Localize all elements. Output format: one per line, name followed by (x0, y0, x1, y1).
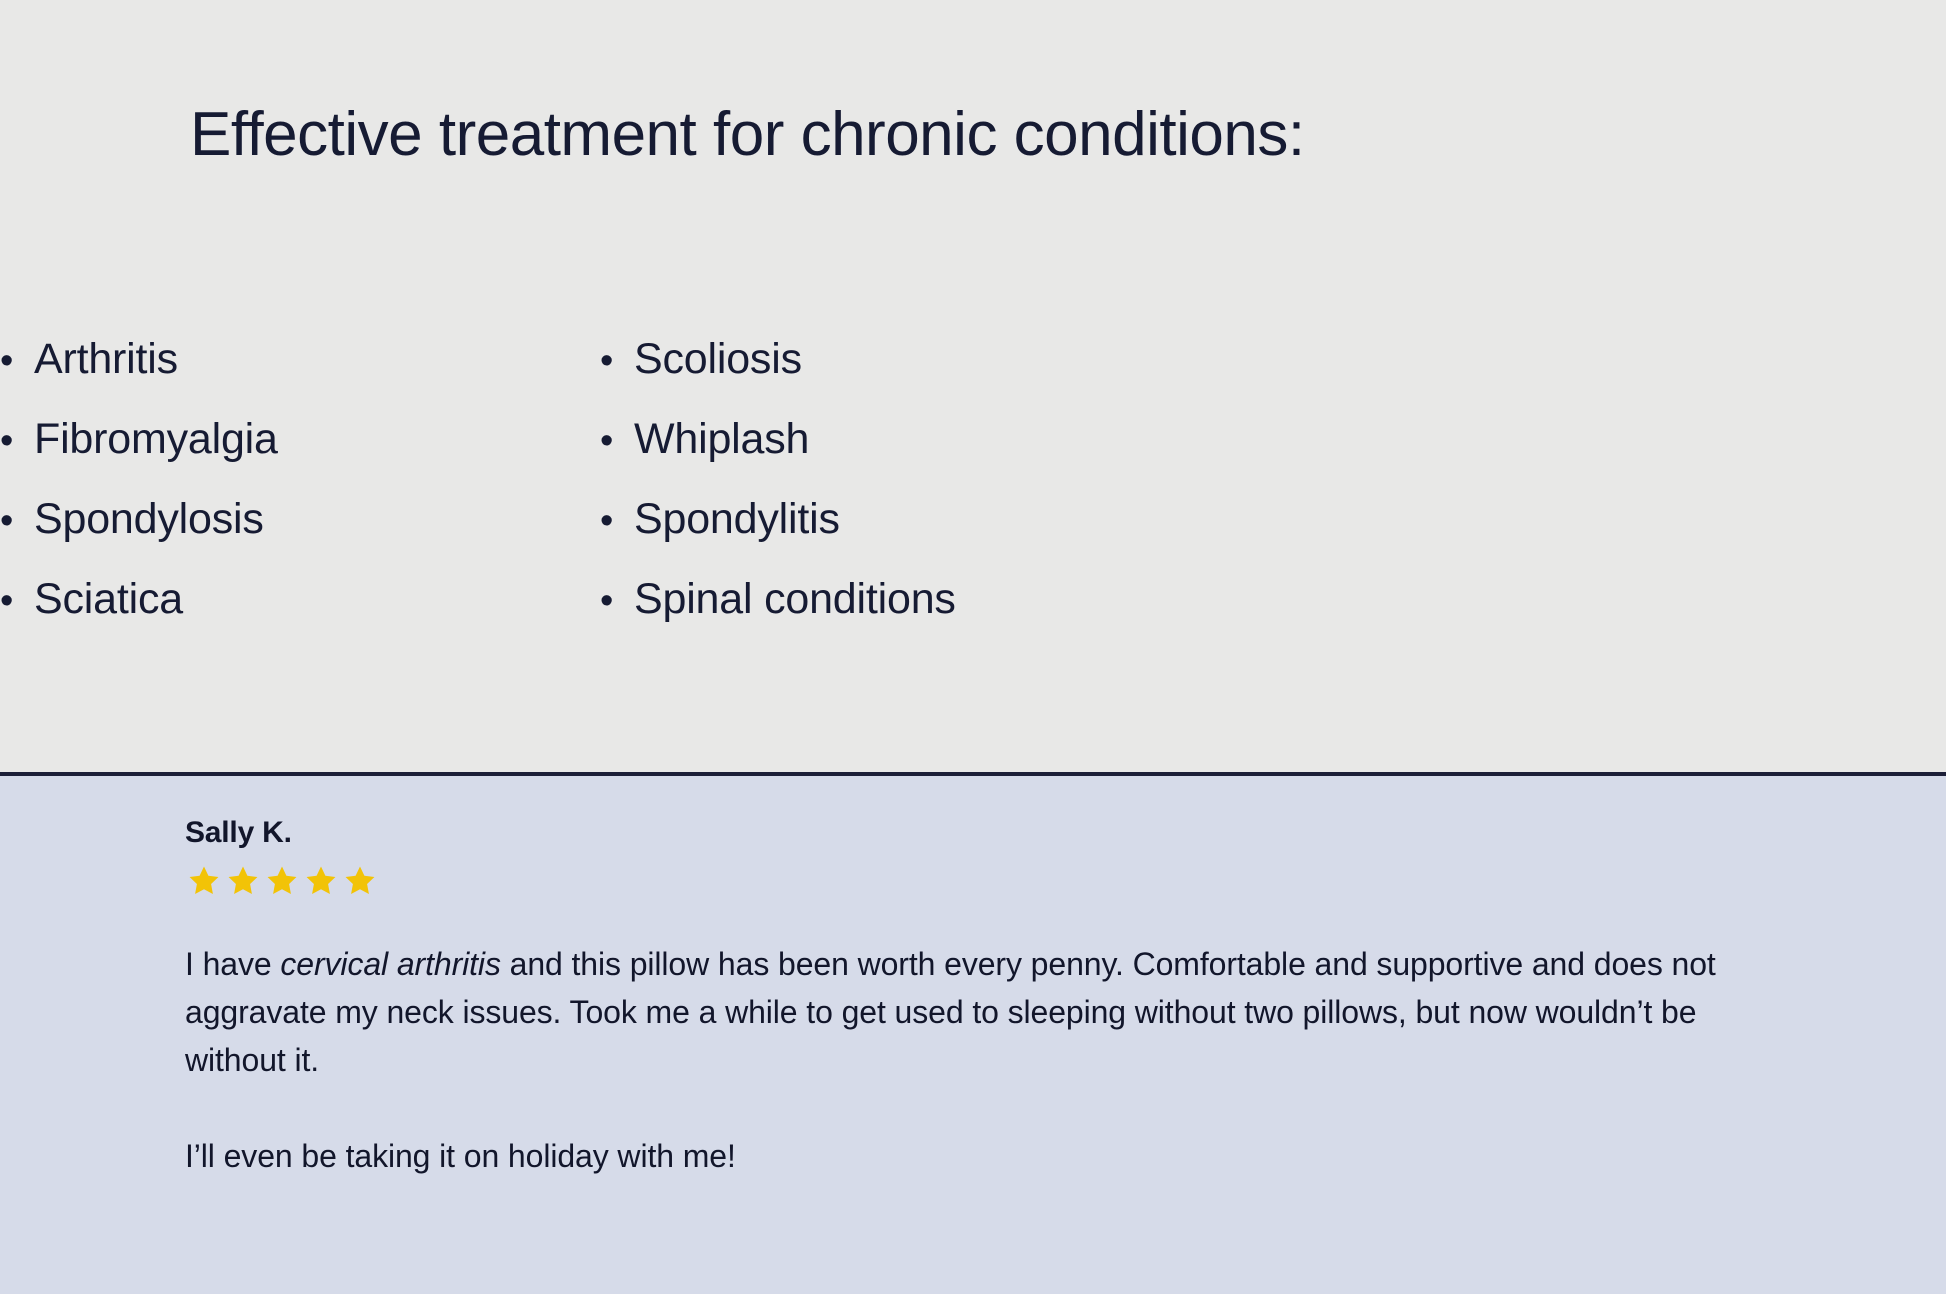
condition-label: Spinal conditions (634, 560, 956, 638)
conditions-column-right: • Scoliosis • Whiplash • Spondylitis • S… (600, 320, 1300, 640)
bullet-icon: • (0, 322, 34, 400)
promo-card: Effective treatment for chronic conditio… (0, 0, 1946, 1294)
condition-label: Sciatica (34, 560, 183, 638)
condition-label: Fibromyalgia (34, 400, 278, 478)
condition-label: Whiplash (634, 400, 809, 478)
bullet-icon: • (600, 402, 634, 480)
conditions-columns: • Arthritis • Fibromyalgia • Spondylosis… (0, 320, 1946, 640)
list-item: • Scoliosis (600, 320, 1300, 400)
star-icon (265, 864, 299, 898)
bullet-icon: • (0, 402, 34, 480)
conditions-section: Effective treatment for chronic conditio… (0, 0, 1946, 772)
list-item: • Spinal conditions (600, 560, 1300, 640)
bullet-icon: • (600, 322, 634, 400)
condition-label: Scoliosis (634, 320, 802, 398)
star-icon (343, 864, 377, 898)
star-icon (187, 864, 221, 898)
star-icon (226, 864, 260, 898)
list-item: • Fibromyalgia (0, 400, 600, 480)
bullet-icon: • (600, 562, 634, 640)
list-item: • Arthritis (0, 320, 600, 400)
emphasized-text: cervical arthritis (280, 946, 500, 982)
list-item: • Whiplash (600, 400, 1300, 480)
review-paragraph: I have cervical arthritis and this pillo… (185, 940, 1785, 1084)
review-paragraph: I’ll even be taking it on holiday with m… (185, 1132, 1785, 1180)
list-item: • Spondylosis (0, 480, 600, 560)
review-text: I have cervical arthritis and this pillo… (185, 940, 1785, 1180)
list-item: • Sciatica (0, 560, 600, 640)
bullet-icon: • (600, 482, 634, 560)
review-text-run: I have (185, 946, 280, 982)
bullet-icon: • (0, 482, 34, 560)
customer-review-section: Sally K. I have cervical arthritis and t… (0, 776, 1946, 1294)
condition-label: Spondylosis (34, 480, 264, 558)
reviewer-name: Sally K. (185, 816, 1825, 850)
conditions-column-left: • Arthritis • Fibromyalgia • Spondylosis… (0, 320, 600, 640)
review-text-run: I’ll even be taking it on holiday with m… (185, 1138, 736, 1174)
condition-label: Spondylitis (634, 480, 840, 558)
bullet-icon: • (0, 562, 34, 640)
review-content: Sally K. I have cervical arthritis and t… (185, 816, 1825, 1180)
star-rating (187, 864, 1825, 898)
list-item: • Spondylitis (600, 480, 1300, 560)
star-icon (304, 864, 338, 898)
condition-label: Arthritis (34, 320, 178, 398)
page-title: Effective treatment for chronic conditio… (190, 102, 1305, 167)
